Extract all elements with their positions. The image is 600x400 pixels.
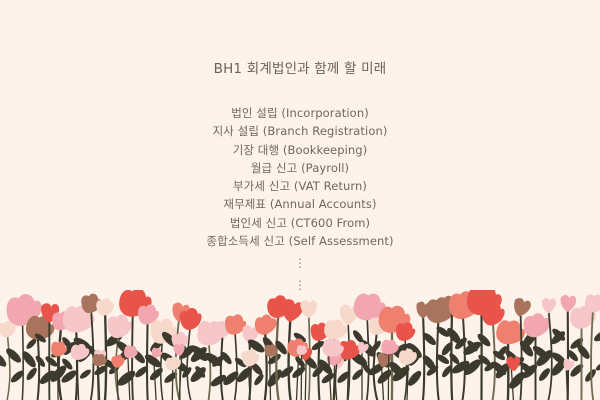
service-list: 법인 설립 (Incorporation) 지사 설립 (Branch Regi… [0,104,600,250]
flower-border-decoration [0,290,600,400]
list-item: 법인 설립 (Incorporation) [0,104,600,122]
page-title: BH1 회계법인과 함께 할 미래 [0,61,600,77]
list-item: 재무제표 (Annual Accounts) [0,195,600,213]
list-item: 법인세 신고 (CT600 From) [0,214,600,232]
vertical-ellipsis-icon: ⋮ [0,252,600,274]
list-item: 월급 신고 (Payroll) [0,159,600,177]
slide-canvas: BH1 회계법인과 함께 할 미래 법인 설립 (Incorporation) … [0,0,600,400]
list-item: 기장 대행 (Bookkeeping) [0,141,600,159]
list-item: 종합소득세 신고 (Self Assessment) [0,232,600,250]
list-item: 부가세 신고 (VAT Return) [0,177,600,195]
list-item: 지사 설립 (Branch Registration) [0,122,600,140]
